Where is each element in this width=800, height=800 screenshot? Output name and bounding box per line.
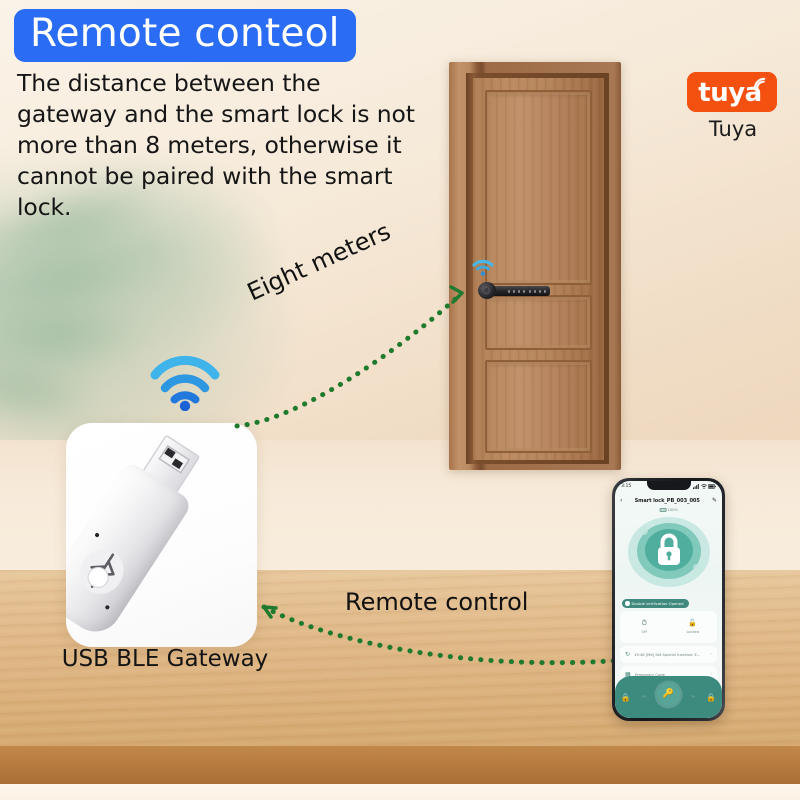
- wooden-table-edge: [0, 746, 800, 784]
- status-icon-group: [693, 484, 716, 489]
- door-panel-top: [485, 90, 592, 285]
- usb-connector-slot: [158, 445, 190, 474]
- list-item-text: 19:46 [Me] Set Special function: E...: [634, 653, 700, 657]
- blurred-plant-decoration: [0, 200, 210, 460]
- wifi-icon: [701, 484, 707, 489]
- phone-page-title: Smart lock_PB_003_005: [635, 498, 700, 504]
- tuya-brand-block: tuya Tuya: [687, 72, 779, 141]
- phone-notch: [647, 481, 691, 490]
- lock-fingerprint-pad: [478, 282, 496, 299]
- status-time: 3:15: [621, 484, 631, 489]
- status-badge-text: Double verification Opened: [632, 601, 684, 606]
- battery-icon: [708, 484, 716, 489]
- battery-percent: 100%: [668, 508, 678, 512]
- lock-icon[interactable]: 🔒: [706, 693, 716, 702]
- product-infographic: Remote conteol The distance between the …: [0, 0, 800, 800]
- usb-indicator-dot-1: [94, 532, 100, 538]
- usb-ble-gateway-card: [66, 423, 257, 647]
- quick-action-item[interactable]: 🔓 Locked: [669, 620, 718, 634]
- quick-action-item[interactable]: ⏱ Off: [620, 620, 669, 634]
- device-battery-indicator: 100%: [659, 508, 678, 512]
- battery-level-box: [659, 508, 666, 512]
- tuya-logo: tuya: [687, 72, 777, 112]
- pencil-icon[interactable]: ✎: [712, 497, 717, 504]
- tuya-caption: Tuya: [687, 117, 779, 141]
- description-text: The distance between the gateway and the…: [17, 68, 417, 223]
- door-panel-middle: [485, 295, 592, 350]
- phone-tab-bar: 🔒 ‹‹ 🔑 ›› 🔒: [615, 676, 722, 718]
- list-item[interactable]: ↻ 19:46 [Me] Set Special function: E... …: [620, 646, 717, 663]
- usb-indicator-dot-2: [105, 605, 111, 611]
- next-icon[interactable]: ››: [691, 694, 695, 700]
- page-title-banner: Remote conteol: [14, 9, 356, 62]
- cellular-icon: [693, 484, 699, 489]
- key-icon[interactable]: 🔑: [657, 683, 680, 706]
- smartphone-mockup: 3:15: [612, 478, 725, 721]
- padlock-icon: [626, 515, 712, 591]
- arrow-gateway-to-lock: [237, 293, 462, 426]
- unlock-icon: 🔓: [669, 620, 718, 627]
- quick-actions-card: ⏱ Off 🔓 Locked: [620, 611, 717, 643]
- wifi-icon: [150, 349, 220, 411]
- chevron-left-icon[interactable]: ‹: [620, 497, 622, 504]
- lock-keypad: [508, 290, 546, 293]
- clock-icon: ⏱: [620, 620, 669, 627]
- usb-dongle-icon: [66, 425, 216, 642]
- phone-screen: 3:15: [615, 481, 722, 718]
- quick-action-label: Off: [620, 630, 669, 634]
- lock-icon[interactable]: 🔒: [621, 693, 631, 702]
- wifi-signal-icon: [753, 77, 768, 90]
- bluetooth-emblem-icon: [70, 538, 134, 604]
- quick-action-label: Locked: [669, 630, 718, 634]
- gateway-caption: USB BLE Gateway: [40, 646, 290, 672]
- remote-control-label: Remote control: [345, 588, 528, 616]
- check-icon: [625, 601, 630, 606]
- status-badge: Double verification Opened: [622, 599, 689, 608]
- door-panel-bottom: [485, 360, 592, 453]
- smart-door-lock-icon: [478, 282, 551, 299]
- chevron-right-icon: ›: [710, 652, 712, 657]
- floor-strip: [0, 784, 800, 800]
- phone-nav-bar: ‹ Smart lock_PB_003_005 ✎: [615, 494, 722, 507]
- wifi-icon: [471, 256, 495, 276]
- distance-label: Eight meters: [243, 217, 395, 306]
- prev-icon[interactable]: ‹‹: [642, 694, 646, 700]
- refresh-icon: ↻: [625, 651, 630, 658]
